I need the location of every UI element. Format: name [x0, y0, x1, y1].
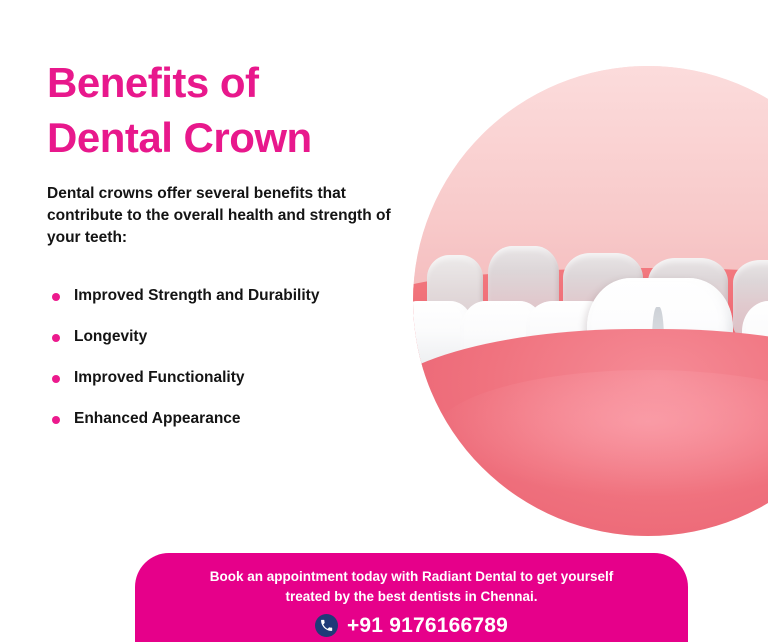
promotional-poster: Benefits of Dental Crown Dental crowns o… — [0, 0, 768, 642]
bullet-dot-icon — [52, 375, 60, 383]
cta-banner: Book an appointment today with Radiant D… — [135, 553, 688, 642]
intro-paragraph: Dental crowns offer several benefits tha… — [47, 183, 415, 249]
phone-handset-icon — [315, 614, 338, 637]
benefits-list: Improved Strength and Durability Longevi… — [47, 287, 427, 429]
list-item: Longevity — [47, 328, 427, 347]
page-title-line-1: Benefits of — [47, 55, 427, 110]
bullet-dot-icon — [52, 293, 60, 301]
benefit-label: Longevity — [74, 328, 147, 345]
dental-crown-image — [413, 66, 768, 536]
lower-gum — [413, 329, 768, 536]
list-item: Enhanced Appearance — [47, 410, 427, 429]
benefit-label: Improved Functionality — [74, 369, 245, 386]
cta-line-1: Book an appointment today with Radiant D… — [210, 569, 614, 584]
cta-text: Book an appointment today with Radiant D… — [135, 553, 688, 607]
bullet-dot-icon — [52, 334, 60, 342]
list-item: Improved Functionality — [47, 369, 427, 388]
list-item: Improved Strength and Durability — [47, 287, 427, 306]
phone-number[interactable]: +91 9176166789 — [347, 615, 508, 636]
phone-row[interactable]: +91 9176166789 — [135, 614, 688, 637]
cta-line-2: treated by the best dentists in Chennai. — [285, 589, 537, 604]
page-title-line-2: Dental Crown — [47, 110, 427, 165]
benefit-label: Enhanced Appearance — [74, 410, 241, 427]
benefit-label: Improved Strength and Durability — [74, 287, 319, 304]
content-column: Benefits of Dental Crown Dental crowns o… — [47, 55, 427, 429]
page-title: Benefits of Dental Crown — [47, 55, 427, 166]
bullet-dot-icon — [52, 416, 60, 424]
